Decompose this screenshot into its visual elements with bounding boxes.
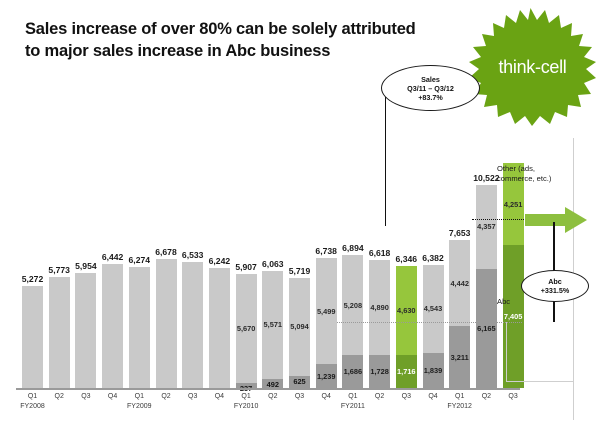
slide-canvas: Sales increase of over 80% can be solely…: [0, 0, 607, 430]
x-axis-fiscal-year: FY2008: [18, 402, 48, 412]
bar-q3-2[interactable]: [75, 273, 96, 388]
x-axis-quarter: Q4: [215, 393, 224, 400]
growth-arrow-icon: [525, 207, 587, 233]
bar-segment-other[interactable]: 5,499: [316, 258, 337, 364]
x-axis-category-labels: Q1FY2008Q2Q3Q4Q1FY2009Q2Q3Q4Q1FY2010Q2Q3…: [16, 392, 536, 426]
top-dotted-connector: [472, 219, 524, 220]
sales-callout-line-3: +83.7%: [418, 93, 443, 102]
bar-segment-value: 4,630: [396, 306, 417, 315]
x-axis-quarter: Q2: [161, 393, 170, 400]
bar-q4-3[interactable]: [102, 264, 123, 388]
bar-segment-value: 1,239: [316, 372, 337, 381]
bar-segment-other[interactable]: 5,094: [289, 278, 310, 376]
bar-segment-value: 5,670: [236, 324, 257, 333]
bar-segment-value: 5,571: [262, 320, 283, 329]
x-axis-quarter: Q1: [28, 393, 37, 400]
abc-callout-line-2: +331.5%: [541, 286, 570, 295]
bar-segment-other[interactable]: 5,571: [262, 271, 283, 379]
bar-q2-1[interactable]: [49, 277, 70, 388]
x-axis-label-6: Q3: [178, 392, 208, 402]
x-axis-quarter: Q1: [348, 393, 357, 400]
bar-segment-abc[interactable]: 492: [262, 379, 283, 388]
x-axis-fiscal-year: FY2012: [445, 402, 475, 412]
bar-q2-9[interactable]: 4925,571: [262, 271, 283, 388]
bar-q4-15[interactable]: 1,8394,543: [423, 265, 444, 388]
x-axis-label-9: Q2: [258, 392, 288, 402]
x-axis-label-1: Q2: [44, 392, 74, 402]
bar-segment-value: 4,251: [503, 200, 524, 209]
x-axis-label-16: Q1FY2012: [445, 392, 475, 412]
bar-q4-11[interactable]: 1,2395,499: [316, 258, 337, 388]
bar-chart-plot: 5,2725,7735,9546,4426,2746,6786,5336,242…: [16, 140, 536, 388]
bar-segment-abc[interactable]: 3,211: [449, 326, 470, 388]
bar-segment-value: 5,094: [289, 322, 310, 331]
bar-segment-value: 5,208: [342, 301, 363, 310]
bar-segment-value: 1,839: [423, 366, 444, 375]
x-axis-fiscal-year: FY2011: [338, 402, 368, 412]
sales-growth-callout: Sales Q3/11 – Q3/12 +83.7%: [381, 65, 480, 111]
x-axis-label-18: Q3: [498, 392, 528, 402]
x-axis-label-5: Q2: [151, 392, 181, 402]
bar-segment-total[interactable]: [102, 264, 123, 388]
bar-segment-value: 4,357: [476, 222, 497, 231]
x-axis-quarter: Q3: [295, 393, 304, 400]
bar-q3-14[interactable]: 1,7164,630: [396, 266, 417, 388]
bar-q1-fy2012[interactable]: 3,2114,442: [449, 240, 470, 388]
lower-divider-rule: [506, 322, 507, 382]
bar-segment-value: 625: [289, 377, 310, 386]
x-axis-quarter: Q2: [55, 393, 64, 400]
bar-segment-value: 6,165: [476, 324, 497, 333]
x-axis-quarter: Q2: [268, 393, 277, 400]
bar-q4-7[interactable]: [209, 268, 230, 388]
bar-segment-abc[interactable]: 1,686: [342, 355, 363, 388]
x-axis-label-4: Q1FY2009: [124, 392, 154, 412]
x-axis-fiscal-year: FY2009: [124, 402, 154, 412]
x-axis-fiscal-year: FY2010: [231, 402, 261, 412]
bar-q1-fy2008[interactable]: [22, 286, 43, 388]
x-axis-line: [16, 388, 520, 390]
sales-callout-line-1: Sales: [421, 75, 440, 84]
bar-segment-other[interactable]: 5,208: [342, 255, 363, 356]
x-axis-label-2: Q3: [71, 392, 101, 402]
abc-callout-line-1: Abc: [548, 277, 562, 286]
bar-segment-abc[interactable]: 625: [289, 376, 310, 388]
x-axis-quarter: Q3: [508, 393, 517, 400]
abc-growth-callout: Abc +331.5%: [521, 270, 589, 302]
x-axis-quarter: Q1: [455, 393, 464, 400]
bar-q3-10[interactable]: 6255,094: [289, 278, 310, 388]
x-axis-label-14: Q3: [391, 392, 421, 402]
bar-segment-other[interactable]: 4,543: [423, 265, 444, 353]
x-axis-quarter: Q3: [81, 393, 90, 400]
x-axis-label-8: Q1FY2010: [231, 392, 261, 412]
bar-segment-abc[interactable]: 1,839: [423, 353, 444, 388]
bar-segment-total[interactable]: [22, 286, 43, 388]
bar-segment-value: 5,499: [316, 307, 337, 316]
bar-q2-13[interactable]: 1,7284,890: [369, 260, 390, 388]
x-axis-label-13: Q2: [365, 392, 395, 402]
bar-q3-6[interactable]: [182, 262, 203, 388]
bar-q2-17[interactable]: 6,1654,357: [476, 185, 497, 388]
bar-segment-total[interactable]: [129, 267, 150, 388]
bar-q1-fy2010[interactable]: 2375,670: [236, 274, 257, 388]
x-axis-quarter: Q1: [241, 393, 250, 400]
bar-q1-fy2009[interactable]: [129, 267, 150, 388]
bar-segment-other[interactable]: 4,357: [476, 185, 497, 269]
bar-segment-value: 4,890: [369, 303, 390, 312]
x-axis-quarter: Q4: [428, 393, 437, 400]
bar-segment-value: 1,716: [396, 367, 417, 376]
baseline-dotted-connector: [337, 322, 522, 323]
bar-segment-value: 4,543: [423, 304, 444, 313]
x-axis-quarter: Q3: [188, 393, 197, 400]
bar-segment-abc[interactable]: 1,716: [396, 355, 417, 388]
bar-q2-5[interactable]: [156, 259, 177, 388]
x-axis-quarter: Q3: [402, 393, 411, 400]
bar-segment-value: 3,211: [449, 353, 470, 362]
x-axis-label-0: Q1FY2008: [18, 392, 48, 412]
x-axis-label-11: Q4: [311, 392, 341, 402]
bar-segment-total[interactable]: [49, 277, 70, 388]
bar-segment-other[interactable]: 4,630: [396, 266, 417, 355]
x-axis-quarter: Q2: [375, 393, 384, 400]
bar-segment-value: 1,728: [369, 367, 390, 376]
bar-segment-total[interactable]: [182, 262, 203, 388]
bar-segment-value: 4,442: [449, 279, 470, 288]
bar-segment-other[interactable]: 4,442: [449, 240, 470, 326]
lower-divider-rule-horizontal: [506, 381, 574, 382]
bar-segment-other[interactable]: 5,670: [236, 274, 257, 383]
bar-segment-abc[interactable]: 1,728: [369, 355, 390, 388]
bar-segment-value: 1,686: [342, 367, 363, 376]
x-axis-quarter: Q2: [482, 393, 491, 400]
title-line-2: to major sales increase in Abc business: [25, 40, 495, 62]
title-line-1: Sales increase of over 80% can be solely…: [25, 20, 416, 38]
x-axis-label-3: Q4: [98, 392, 128, 402]
sales-callout-leader-line: [385, 84, 386, 226]
bar-segment-total[interactable]: [209, 268, 230, 388]
x-axis-quarter: Q4: [322, 393, 331, 400]
x-axis-label-10: Q3: [285, 392, 315, 402]
sales-callout-line-2: Q3/11 – Q3/12: [407, 84, 454, 93]
page-title: Sales increase of over 80% can be solely…: [25, 18, 495, 63]
x-axis-label-15: Q4: [418, 392, 448, 402]
bar-segment-total[interactable]: [156, 259, 177, 388]
bar-segment-total[interactable]: [75, 273, 96, 388]
x-axis-label-17: Q2: [471, 392, 501, 402]
x-axis-quarter: Q4: [108, 393, 117, 400]
bar-segment-abc[interactable]: 1,239: [316, 364, 337, 388]
think-cell-logo: think-cell: [463, 6, 598, 128]
bar-segment-abc[interactable]: 6,165: [476, 269, 497, 388]
x-axis-quarter: Q1: [135, 393, 144, 400]
bar-segment-other[interactable]: 4,890: [369, 260, 390, 354]
bar-segment-value: 7,405: [503, 312, 524, 321]
x-axis-label-7: Q4: [204, 392, 234, 402]
x-axis-label-12: Q1FY2011: [338, 392, 368, 412]
series-label-other: Other (ads, commerce, etc.): [497, 164, 569, 185]
logo-wordmark: think-cell: [463, 6, 598, 128]
